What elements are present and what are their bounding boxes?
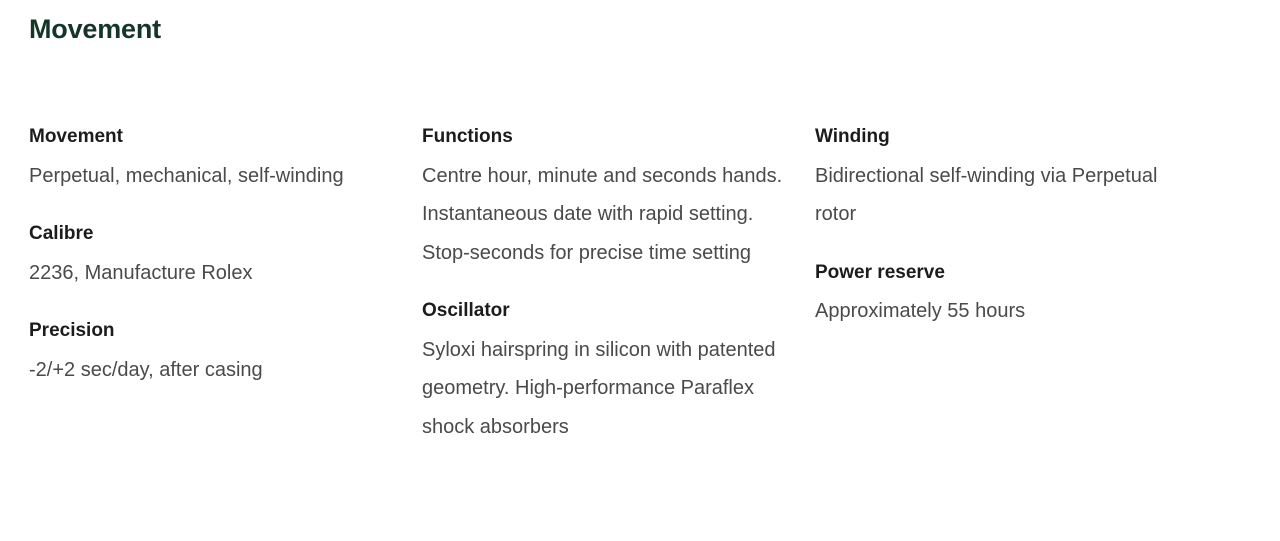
spec-label-functions: Functions xyxy=(422,118,787,157)
spec-value-functions: Centre hour, minute and seconds hands. I… xyxy=(422,157,787,273)
spec-value-power-reserve: Approximately 55 hours xyxy=(815,292,1187,331)
spec-label-calibre: Calibre xyxy=(29,215,394,254)
spec-value-oscillator: Syloxi hairspring in silicon with patent… xyxy=(422,331,787,447)
spec-label-precision: Precision xyxy=(29,312,394,351)
spec-column-movement: Movement Perpetual, mechanical, self-win… xyxy=(29,118,422,389)
spec-value-precision: -2/+2 sec/day, after casing xyxy=(29,351,394,390)
spec-block-calibre: Calibre 2236, Manufacture Rolex xyxy=(29,215,394,292)
spec-column-winding: Winding Bidirectional self-winding via P… xyxy=(815,118,1215,331)
spec-block-power-reserve: Power reserve Approximately 55 hours xyxy=(815,254,1187,331)
spec-label-oscillator: Oscillator xyxy=(422,292,787,331)
spec-block-functions: Functions Centre hour, minute and second… xyxy=(422,118,787,272)
spec-value-movement: Perpetual, mechanical, self-winding xyxy=(29,157,394,196)
spec-block-winding: Winding Bidirectional self-winding via P… xyxy=(815,118,1187,234)
spec-block-oscillator: Oscillator Syloxi hairspring in silicon … xyxy=(422,292,787,446)
spec-label-movement: Movement xyxy=(29,118,394,157)
spec-column-functions: Functions Centre hour, minute and second… xyxy=(422,118,815,446)
spec-value-calibre: 2236, Manufacture Rolex xyxy=(29,254,394,293)
spec-block-precision: Precision -2/+2 sec/day, after casing xyxy=(29,312,394,389)
spec-value-winding: Bidirectional self-winding via Perpetual… xyxy=(815,157,1187,234)
spec-block-movement: Movement Perpetual, mechanical, self-win… xyxy=(29,118,394,195)
spec-label-winding: Winding xyxy=(815,118,1187,157)
spec-label-power-reserve: Power reserve xyxy=(815,254,1187,293)
specification-columns: Movement Perpetual, mechanical, self-win… xyxy=(29,118,1251,446)
movement-specifications-page: Movement Movement Perpetual, mechanical,… xyxy=(0,0,1280,541)
page-title: Movement xyxy=(29,12,161,46)
